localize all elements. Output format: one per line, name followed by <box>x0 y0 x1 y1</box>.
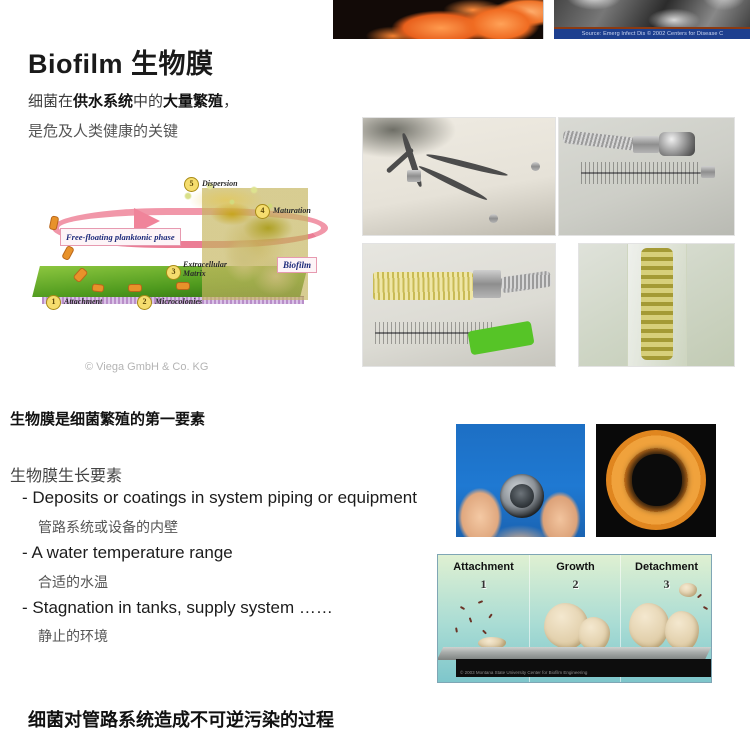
corroded-pipe-cross-section <box>596 424 716 537</box>
agd-panel-3-number: 3 <box>621 577 712 592</box>
bacterium-rod <box>128 284 142 292</box>
stage-4-label: Maturation <box>273 206 311 215</box>
section-heading: 生物膜是细菌繁殖的第一要素 <box>10 408 205 429</box>
bacterium-rod <box>92 283 105 292</box>
yellow-biofilm-brush-photo <box>362 243 556 367</box>
biofilm-lifecycle-diagram: 1 Attachment 2 Microcolonies 3 Extracell… <box>24 168 324 323</box>
bullet-3-chinese: 静止的环境 <box>38 626 108 646</box>
bottom-heading: 细菌对管路系统造成不可逆污染的过程 <box>28 706 334 732</box>
subtitle-line-2: 是危及人类健康的关键 <box>28 120 178 141</box>
orange-bacteria-micrograph <box>333 0 544 39</box>
micrograph-source-caption: Source: Emerg Infect Dis © 2002 Centers … <box>554 27 750 39</box>
stage-2-label: Microcolonies <box>155 297 202 306</box>
pipe-cross-section-in-hand <box>456 424 585 537</box>
agd-panel-3-title: Detachment <box>621 561 712 573</box>
stage-5-label: Dispersion <box>202 179 238 188</box>
diagram-copyright: © Viega GmbH & Co. KG <box>85 361 208 373</box>
flexible-hose-photo <box>362 117 556 236</box>
bullet-2-english: - A water temperature range <box>22 543 233 563</box>
agd-panel-2-title: Growth <box>530 561 621 573</box>
page-title: Biofilm 生物膜 <box>28 42 214 81</box>
stage-2-badge: 2 <box>137 295 152 310</box>
hose-with-brush-photo <box>558 117 735 236</box>
stage-3-badge: 3 <box>166 265 181 280</box>
biofilm-fouled-brush <box>641 248 673 360</box>
pipe-bore <box>510 484 534 508</box>
bullet-1-chinese: 管路系统或设备的内壁 <box>38 517 178 537</box>
stage-1-badge: 1 <box>46 295 61 310</box>
agd-panel-1-number: 1 <box>438 577 529 592</box>
stage-4-badge: 4 <box>255 204 270 219</box>
bullet-2-chinese: 合适的水温 <box>38 572 108 592</box>
biofilm-callout: Biofilm <box>277 257 317 273</box>
stage-1-label: Attachment <box>64 297 102 306</box>
sem-biofilm-micrograph: Source: Emerg Infect Dis © 2002 Centers … <box>554 0 750 39</box>
growth-factors-label: 生物膜生长要素 <box>10 462 122 486</box>
subtitle-mid: 中的 <box>133 94 163 110</box>
subtitle-bold-proliferation: 大量繁殖 <box>163 94 223 110</box>
biofilm-coated-bristles <box>373 272 473 300</box>
blocked-pipe-bore <box>632 454 682 506</box>
subtitle-line-1: 细菌在供水系统中的大量繁殖， <box>28 90 238 111</box>
agd-panel-1-title: Attachment <box>438 561 529 573</box>
subtitle-prefix: 细菌在 <box>28 94 73 110</box>
planktonic-phase-callout: Free-floating planktonic phase <box>60 228 181 246</box>
bullet-3-english: - Stagnation in tanks, supply system …… <box>22 598 333 618</box>
attachment-growth-detachment-diagram: Attachment 1 Growth 2 Detachment 3 © 200… <box>437 554 712 683</box>
subtitle-bold-supply-system: 供水系统 <box>73 94 133 110</box>
agd-panel-2-number: 2 <box>530 577 621 592</box>
stage-5-badge: 5 <box>184 177 199 192</box>
agd-credit: © 2003 Montana State University Center f… <box>460 670 587 675</box>
bacterium-rod <box>176 282 190 290</box>
stage-3-label: Extracellular Matrix <box>183 260 235 278</box>
subtitle-suffix: ， <box>223 94 238 110</box>
bullet-1-english: - Deposits or coatings in system piping … <box>22 488 417 508</box>
brush-in-tube-photo <box>578 243 735 367</box>
bacterium-rod <box>61 245 75 261</box>
